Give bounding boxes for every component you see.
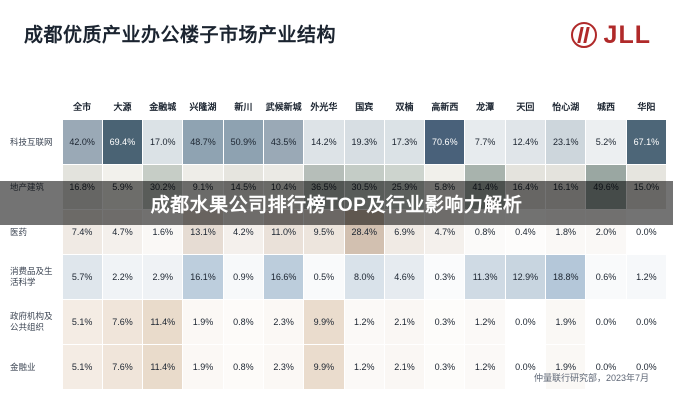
- heatmap-cell: 1.2%: [344, 345, 384, 390]
- heatmap-cell: 0.6%: [586, 255, 626, 300]
- heatmap-table: 全市大源金融城兴隆湖新川武候新城外光华国宾双楠高新西龙潭天回怡心湖城西华阳 科技…: [6, 96, 667, 390]
- table-body: 科技互联网42.0%69.4%17.0%48.7%50.9%43.5%14.2%…: [6, 120, 667, 390]
- heatmap-cell: 0.9%: [223, 255, 263, 300]
- heatmap-cell: 4.6%: [384, 255, 424, 300]
- page-title: 成都优质产业办公楼子市场产业结构: [24, 20, 336, 47]
- column-header-9: 高新西: [425, 96, 465, 120]
- row-header-3: 消费品及生活科学: [6, 255, 62, 300]
- row-header-5: 金融业: [6, 345, 62, 390]
- heatmap-cell: 0.0%: [505, 300, 545, 345]
- column-header-11: 天回: [505, 96, 545, 120]
- heatmap-cell: 16.1%: [183, 255, 223, 300]
- heatmap-cell: 5.7%: [62, 255, 102, 300]
- heatmap-cell: 42.0%: [62, 120, 102, 165]
- column-header-7: 国宾: [344, 96, 384, 120]
- heatmap-cell: 7.7%: [465, 120, 505, 165]
- jll-logo: JLL: [571, 22, 651, 48]
- chart-header: 成都优质产业办公楼子市场产业结构 JLL: [0, 0, 673, 78]
- table-header-row: 全市大源金融城兴隆湖新川武候新城外光华国宾双楠高新西龙潭天回怡心湖城西华阳: [6, 96, 667, 120]
- heatmap-cell: 5.1%: [62, 300, 102, 345]
- column-header-10: 龙潭: [465, 96, 505, 120]
- heatmap-cell: 17.3%: [384, 120, 424, 165]
- heatmap-cell: 12.9%: [505, 255, 545, 300]
- heatmap-cell: 2.1%: [384, 300, 424, 345]
- heatmap-cell: 0.8%: [223, 345, 263, 390]
- heatmap-cell: 12.4%: [505, 120, 545, 165]
- column-header-3: 兴隆湖: [183, 96, 223, 120]
- heatmap-cell: 23.1%: [546, 120, 586, 165]
- heatmap-cell: 0.0%: [586, 300, 626, 345]
- heatmap-cell: 1.2%: [465, 300, 505, 345]
- heatmap-cell: 1.9%: [183, 345, 223, 390]
- logo-text: JLL: [604, 23, 651, 48]
- heatmap-table-wrapper: 全市大源金融城兴隆湖新川武候新城外光华国宾双楠高新西龙潭天回怡心湖城西华阳 科技…: [6, 96, 667, 390]
- heatmap-cell: 2.1%: [384, 345, 424, 390]
- heatmap-cell: 8.0%: [344, 255, 384, 300]
- heatmap-cell: 5.1%: [62, 345, 102, 390]
- table-corner: [6, 96, 62, 120]
- column-header-12: 怡心湖: [546, 96, 586, 120]
- heatmap-cell: 7.6%: [102, 300, 142, 345]
- heatmap-cell: 2.3%: [263, 345, 303, 390]
- heatmap-cell: 11.4%: [143, 345, 183, 390]
- heatmap-cell: 2.9%: [143, 255, 183, 300]
- heatmap-cell: 48.7%: [183, 120, 223, 165]
- heatmap-cell: 11.3%: [465, 255, 505, 300]
- heatmap-cell: 18.8%: [546, 255, 586, 300]
- heatmap-cell: 9.9%: [304, 345, 344, 390]
- row-header-4: 政府机构及公共组织: [6, 300, 62, 345]
- heatmap-cell: 0.3%: [425, 255, 465, 300]
- column-header-4: 新川: [223, 96, 263, 120]
- heatmap-cell: 1.9%: [546, 300, 586, 345]
- column-header-1: 大源: [102, 96, 142, 120]
- heatmap-cell: 2.2%: [102, 255, 142, 300]
- heatmap-cell: 50.9%: [223, 120, 263, 165]
- heatmap-cell: 0.8%: [223, 300, 263, 345]
- table-row: 科技互联网42.0%69.4%17.0%48.7%50.9%43.5%14.2%…: [6, 120, 667, 165]
- heatmap-cell: 70.6%: [425, 120, 465, 165]
- jll-circle-logo-icon: [571, 22, 597, 48]
- table-row: 政府机构及公共组织5.1%7.6%11.4%1.9%0.8%2.3%9.9%1.…: [6, 300, 667, 345]
- column-header-13: 城西: [586, 96, 626, 120]
- heatmap-cell: 69.4%: [102, 120, 142, 165]
- heatmap-cell: 19.3%: [344, 120, 384, 165]
- heatmap-cell: 9.9%: [304, 300, 344, 345]
- heatmap-cell: 2.3%: [263, 300, 303, 345]
- column-header-14: 华阳: [626, 96, 666, 120]
- heatmap-cell: 1.2%: [626, 255, 666, 300]
- overlay-banner: 成都水果公司排行榜TOP及行业影响力解析: [0, 181, 673, 225]
- table-row: 消费品及生活科学5.7%2.2%2.9%16.1%0.9%16.6%0.5%8.…: [6, 255, 667, 300]
- heatmap-cell: 1.2%: [465, 345, 505, 390]
- chart-page: 成都优质产业办公楼子市场产业结构 JLL 全市大源金融城兴隆湖新川武候新城外光华…: [0, 0, 673, 400]
- heatmap-cell: 43.5%: [263, 120, 303, 165]
- heatmap-cell: 16.6%: [263, 255, 303, 300]
- heatmap-cell: 0.0%: [626, 300, 666, 345]
- row-header-0: 科技互联网: [6, 120, 62, 165]
- column-header-8: 双楠: [384, 96, 424, 120]
- banner-title: 成都水果公司排行榜TOP及行业影响力解析: [151, 190, 523, 217]
- column-header-0: 全市: [62, 96, 102, 120]
- heatmap-cell: 0.3%: [425, 300, 465, 345]
- heatmap-cell: 67.1%: [626, 120, 666, 165]
- heatmap-cell: 5.2%: [586, 120, 626, 165]
- heatmap-cell: 17.0%: [143, 120, 183, 165]
- column-header-5: 武候新城: [263, 96, 303, 120]
- heatmap-cell: 1.9%: [183, 300, 223, 345]
- source-note: 仲量联行研究部，2023年7月: [534, 371, 649, 384]
- heatmap-cell: 0.3%: [425, 345, 465, 390]
- heatmap-cell: 1.2%: [344, 300, 384, 345]
- heatmap-cell: 7.6%: [102, 345, 142, 390]
- column-header-2: 金融城: [143, 96, 183, 120]
- column-header-6: 外光华: [304, 96, 344, 120]
- heatmap-cell: 0.5%: [304, 255, 344, 300]
- heatmap-cell: 14.2%: [304, 120, 344, 165]
- heatmap-cell: 11.4%: [143, 300, 183, 345]
